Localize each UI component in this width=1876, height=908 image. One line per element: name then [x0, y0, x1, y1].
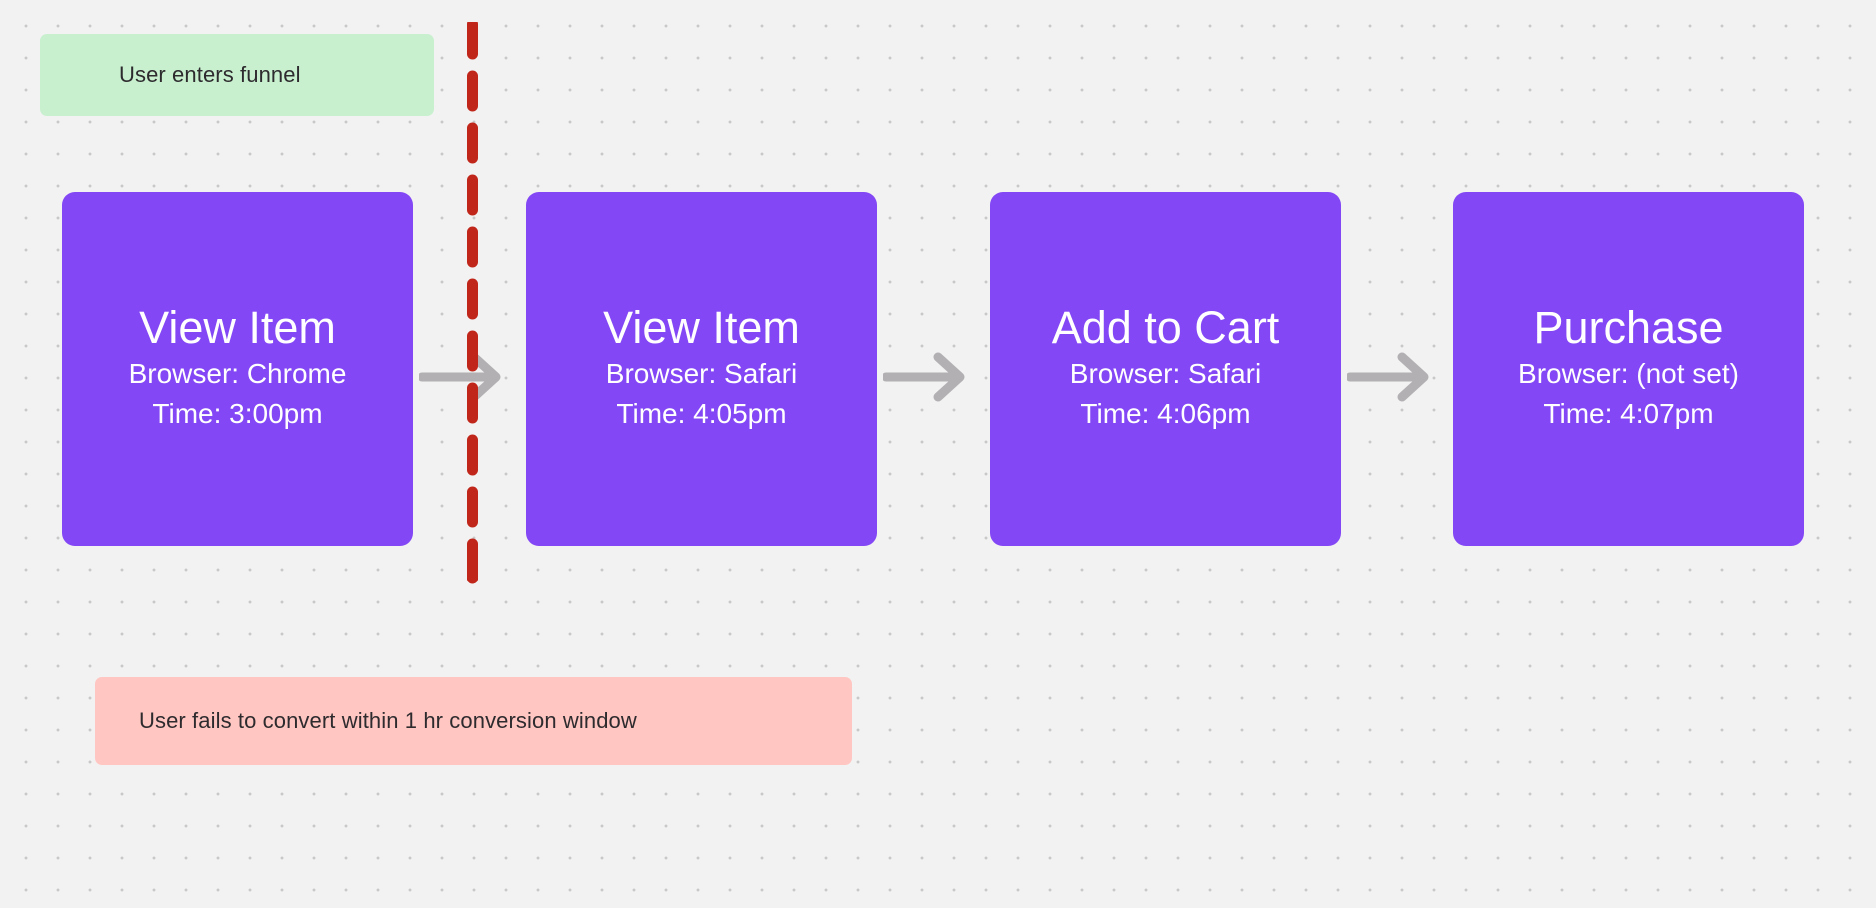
step-node-time: Time: 4:07pm — [1543, 394, 1713, 434]
step-node-browser: Browser: (not set) — [1518, 354, 1739, 394]
flow-arrow-right-icon — [419, 349, 505, 405]
conversion-window-dashed-arrow-icon — [467, 22, 478, 627]
step-node-time: Time: 4:06pm — [1080, 394, 1250, 434]
note-user-fails-to-convert-label: User fails to convert within 1 hr conver… — [139, 708, 637, 734]
diagram-canvas: User enters funnel User fails to convert… — [0, 0, 1876, 908]
step-node-view-item-2[interactable]: View Item Browser: Safari Time: 4:05pm — [526, 192, 877, 546]
step-node-view-item-1[interactable]: View Item Browser: Chrome Time: 3:00pm — [62, 192, 413, 546]
flow-arrow-right-icon — [883, 349, 969, 405]
step-node-title: Add to Cart — [1052, 304, 1280, 352]
step-node-purchase[interactable]: Purchase Browser: (not set) Time: 4:07pm — [1453, 192, 1804, 546]
note-user-enters-funnel[interactable]: User enters funnel — [40, 34, 434, 116]
step-node-browser: Browser: Safari — [606, 354, 797, 394]
step-node-time: Time: 4:05pm — [616, 394, 786, 434]
step-node-time: Time: 3:00pm — [152, 394, 322, 434]
flow-arrow-right-icon — [1347, 349, 1433, 405]
note-user-enters-funnel-label: User enters funnel — [119, 62, 301, 88]
step-node-title: View Item — [139, 304, 336, 352]
step-node-browser: Browser: Safari — [1070, 354, 1261, 394]
step-node-browser: Browser: Chrome — [129, 354, 347, 394]
step-node-add-to-cart[interactable]: Add to Cart Browser: Safari Time: 4:06pm — [990, 192, 1341, 546]
note-user-fails-to-convert[interactable]: User fails to convert within 1 hr conver… — [95, 677, 852, 765]
step-node-title: Purchase — [1533, 304, 1723, 352]
step-node-title: View Item — [603, 304, 800, 352]
